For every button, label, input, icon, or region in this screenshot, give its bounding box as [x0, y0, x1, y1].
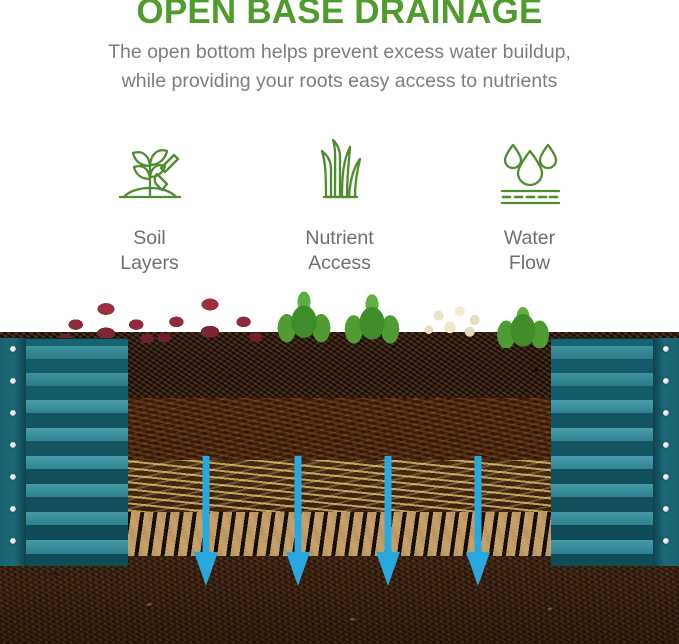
panel-screw — [663, 378, 669, 384]
subtitle-line-2: while providing your roots easy access t… — [0, 67, 679, 96]
crop-cauliflower — [414, 294, 496, 348]
feature-label-line-2: Access — [305, 251, 373, 276]
panel-screw — [663, 506, 669, 512]
crop-red-leaf-lettuce — [150, 290, 270, 348]
feature-list: Soil Layers Nutrient Access — [0, 136, 679, 276]
feature-nutrient-access: Nutrient Access — [245, 136, 435, 276]
water-flow-icon — [492, 136, 568, 212]
feature-label: Soil Layers — [120, 226, 179, 276]
panel-screw — [10, 506, 16, 512]
panel-screw — [663, 346, 669, 352]
panel-screw — [663, 474, 669, 480]
subtitle-line-1: The open bottom helps prevent excess wat… — [0, 38, 679, 67]
panel-screw — [10, 378, 16, 384]
panel-screw — [10, 346, 16, 352]
bed-panel-right — [551, 338, 679, 566]
feature-label: Water Flow — [504, 226, 555, 276]
raised-bed-illustration — [0, 276, 679, 644]
panel-screw — [10, 442, 16, 448]
native-ground-layer — [0, 556, 679, 644]
feature-label-line-1: Soil — [120, 226, 179, 251]
bed-corner-post — [0, 338, 26, 566]
page-subtitle: The open bottom helps prevent excess wat… — [0, 38, 679, 96]
panel-screw — [10, 410, 16, 416]
soil-layers-icon — [112, 136, 188, 212]
panel-screw — [10, 538, 16, 544]
crop-green-cabbage — [488, 304, 558, 348]
nutrient-access-icon — [302, 136, 378, 212]
page-title: OPEN BASE DRAINAGE — [0, 0, 679, 33]
crop-green-cabbage — [268, 282, 340, 348]
feature-label-line-1: Water — [504, 226, 555, 251]
panel-screw — [663, 538, 669, 544]
panel-screw — [663, 442, 669, 448]
crop-green-cabbage — [334, 286, 410, 348]
feature-label: Nutrient Access — [305, 226, 373, 276]
panel-screw — [663, 410, 669, 416]
infographic-page: OPEN BASE DRAINAGE The open bottom helps… — [0, 0, 679, 644]
feature-label-line-1: Nutrient — [305, 226, 373, 251]
feature-label-line-2: Layers — [120, 251, 179, 276]
bed-panel-left — [0, 338, 128, 566]
bed-corner-post — [653, 338, 679, 566]
panel-screw — [10, 474, 16, 480]
feature-soil-layers: Soil Layers — [55, 136, 245, 276]
feature-water-flow: Water Flow — [435, 136, 625, 276]
feature-label-line-2: Flow — [504, 251, 555, 276]
